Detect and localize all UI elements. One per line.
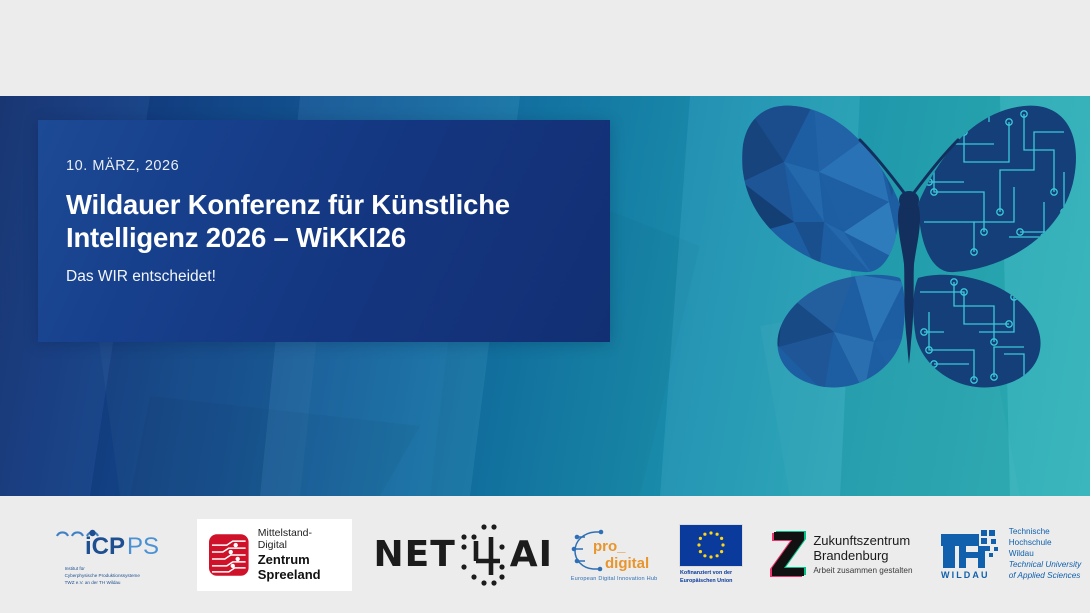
icpps-wordmark-icon: iCP PS xyxy=(49,523,167,557)
event-tagline: Das WIR entscheidet! xyxy=(66,268,610,286)
thw-line-1: Technische xyxy=(1009,527,1082,538)
headline-line-2: Intelligenz 2026 – WiKKI26 xyxy=(66,221,586,254)
net4ai-part-1: NET xyxy=(374,534,456,575)
logo-mittelstand-digital-zentrum-spreeland[interactable]: Mittelstand-Digital Zentrum Spreeland xyxy=(197,519,352,591)
banner-page: 10. MÄRZ, 2026 Wildauer Konferenz für Kü… xyxy=(0,0,1090,613)
icpps-sub-line-2: Cyberphysische Produktionssysteme xyxy=(65,572,167,579)
butterfly-left-upper-wing xyxy=(724,96,914,292)
mdz-line-1: Mittelstand-Digital xyxy=(258,527,341,552)
hero-banner: 10. MÄRZ, 2026 Wildauer Konferenz für Kü… xyxy=(0,96,1090,496)
logo-th-wildau[interactable]: WILDAU Technische Hochschule Wildau Tech… xyxy=(930,527,1090,581)
thw-line-4: Technical University xyxy=(1009,560,1082,571)
pro-digital-word-1: pro_ xyxy=(593,538,626,555)
logo-european-union[interactable]: Kofinanziert von der Europäischen Union xyxy=(673,524,749,585)
svg-text:PS: PS xyxy=(127,533,159,557)
page-title: Wildauer Konferenz für Künstliche Intell… xyxy=(66,188,586,254)
icpps-subtitle: Institut für Cyberphysische Produktionss… xyxy=(49,565,167,586)
svg-text:iCP: iCP xyxy=(85,533,125,557)
thw-line-5: of Applied Sciences xyxy=(1009,571,1082,582)
pro-digital-wordmark-icon: pro_ digital xyxy=(571,527,667,573)
thw-line-2: Hochschule xyxy=(1009,538,1082,549)
butterfly-right-upper-wing xyxy=(918,101,1076,272)
eu-caption-line-2: Europäischen Union xyxy=(680,578,742,585)
hero-text-panel: 10. MÄRZ, 2026 Wildauer Konferenz für Kü… xyxy=(38,120,610,342)
z-mark-icon xyxy=(768,531,806,579)
icpps-sub-line-3: TWZ e.V. an der TH Wildau xyxy=(65,579,167,586)
th-wildau-wordmark: WILDAU xyxy=(941,570,990,580)
butterfly-icon xyxy=(724,96,1090,412)
logo-net4ai[interactable]: NET xyxy=(366,523,560,587)
circuit-mark-icon xyxy=(209,534,249,576)
zkz-line-2: Brandenburg xyxy=(813,548,912,563)
butterfly-left-lower-wing xyxy=(754,262,914,404)
logo-zukunftszentrum-brandenburg[interactable]: Zukunftszentrum Brandenburg Arbeit zusam… xyxy=(763,531,918,579)
eu-flag-icon xyxy=(679,524,743,567)
th-wildau-mark-icon: WILDAU xyxy=(939,528,1001,580)
partner-logo-bar: iCP PS Institut für Cyberphysische Produ… xyxy=(0,496,1090,613)
pro-digital-subtitle: European Digital Innovation Hub xyxy=(571,576,658,582)
logo-icpps[interactable]: iCP PS Institut für Cyberphysische Produ… xyxy=(30,523,185,586)
net4ai-part-3: AI xyxy=(510,534,553,575)
event-date: 10. MÄRZ, 2026 xyxy=(66,158,610,174)
eu-caption: Kofinanziert von der Europäischen Union xyxy=(680,570,742,585)
logo-pro-digital[interactable]: pro_ digital European Digital Innovation… xyxy=(570,527,667,582)
mdz-line-3: Spreeland xyxy=(258,567,341,582)
icpps-sub-line-1: Institut für xyxy=(65,565,167,572)
mdz-line-2: Zentrum xyxy=(258,552,341,567)
thw-line-3: Wildau xyxy=(1009,549,1082,560)
headline-line-1: Wildauer Konferenz für Künstliche xyxy=(66,189,510,220)
pro-digital-word-2: digital xyxy=(605,555,649,572)
zkz-line-1: Zukunftszentrum xyxy=(813,533,912,548)
zkz-claim: Arbeit zusammen gestalten xyxy=(813,566,912,576)
net4ai-dot-matrix-four-icon xyxy=(458,523,508,587)
butterfly-right-lower-wing xyxy=(913,275,1040,395)
eu-caption-line-1: Kofinanziert von der xyxy=(680,570,742,577)
